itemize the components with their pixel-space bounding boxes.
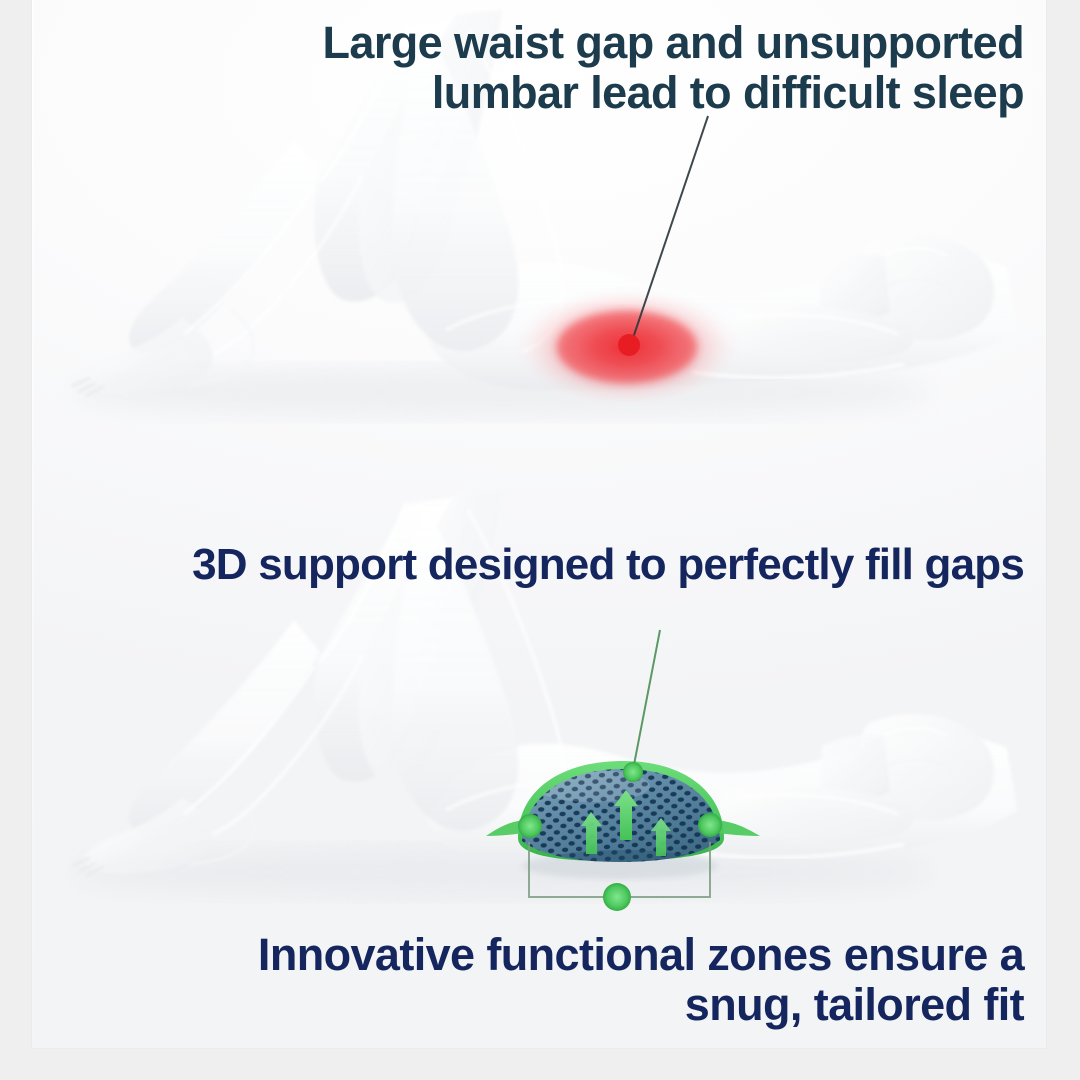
infographic-card: Large waist gap and unsupported lumbar l… (32, 0, 1046, 1048)
caption-3d-support: 3D support designed to perfectly fill ga… (64, 540, 1024, 589)
caption-problem-statement: Large waist gap and unsupported lumbar l… (224, 18, 1024, 119)
product-infographic: Large waist gap and unsupported lumbar l… (0, 0, 1080, 1080)
caption-functional-zones: Innovative functional zones ensure a snu… (184, 930, 1024, 1031)
